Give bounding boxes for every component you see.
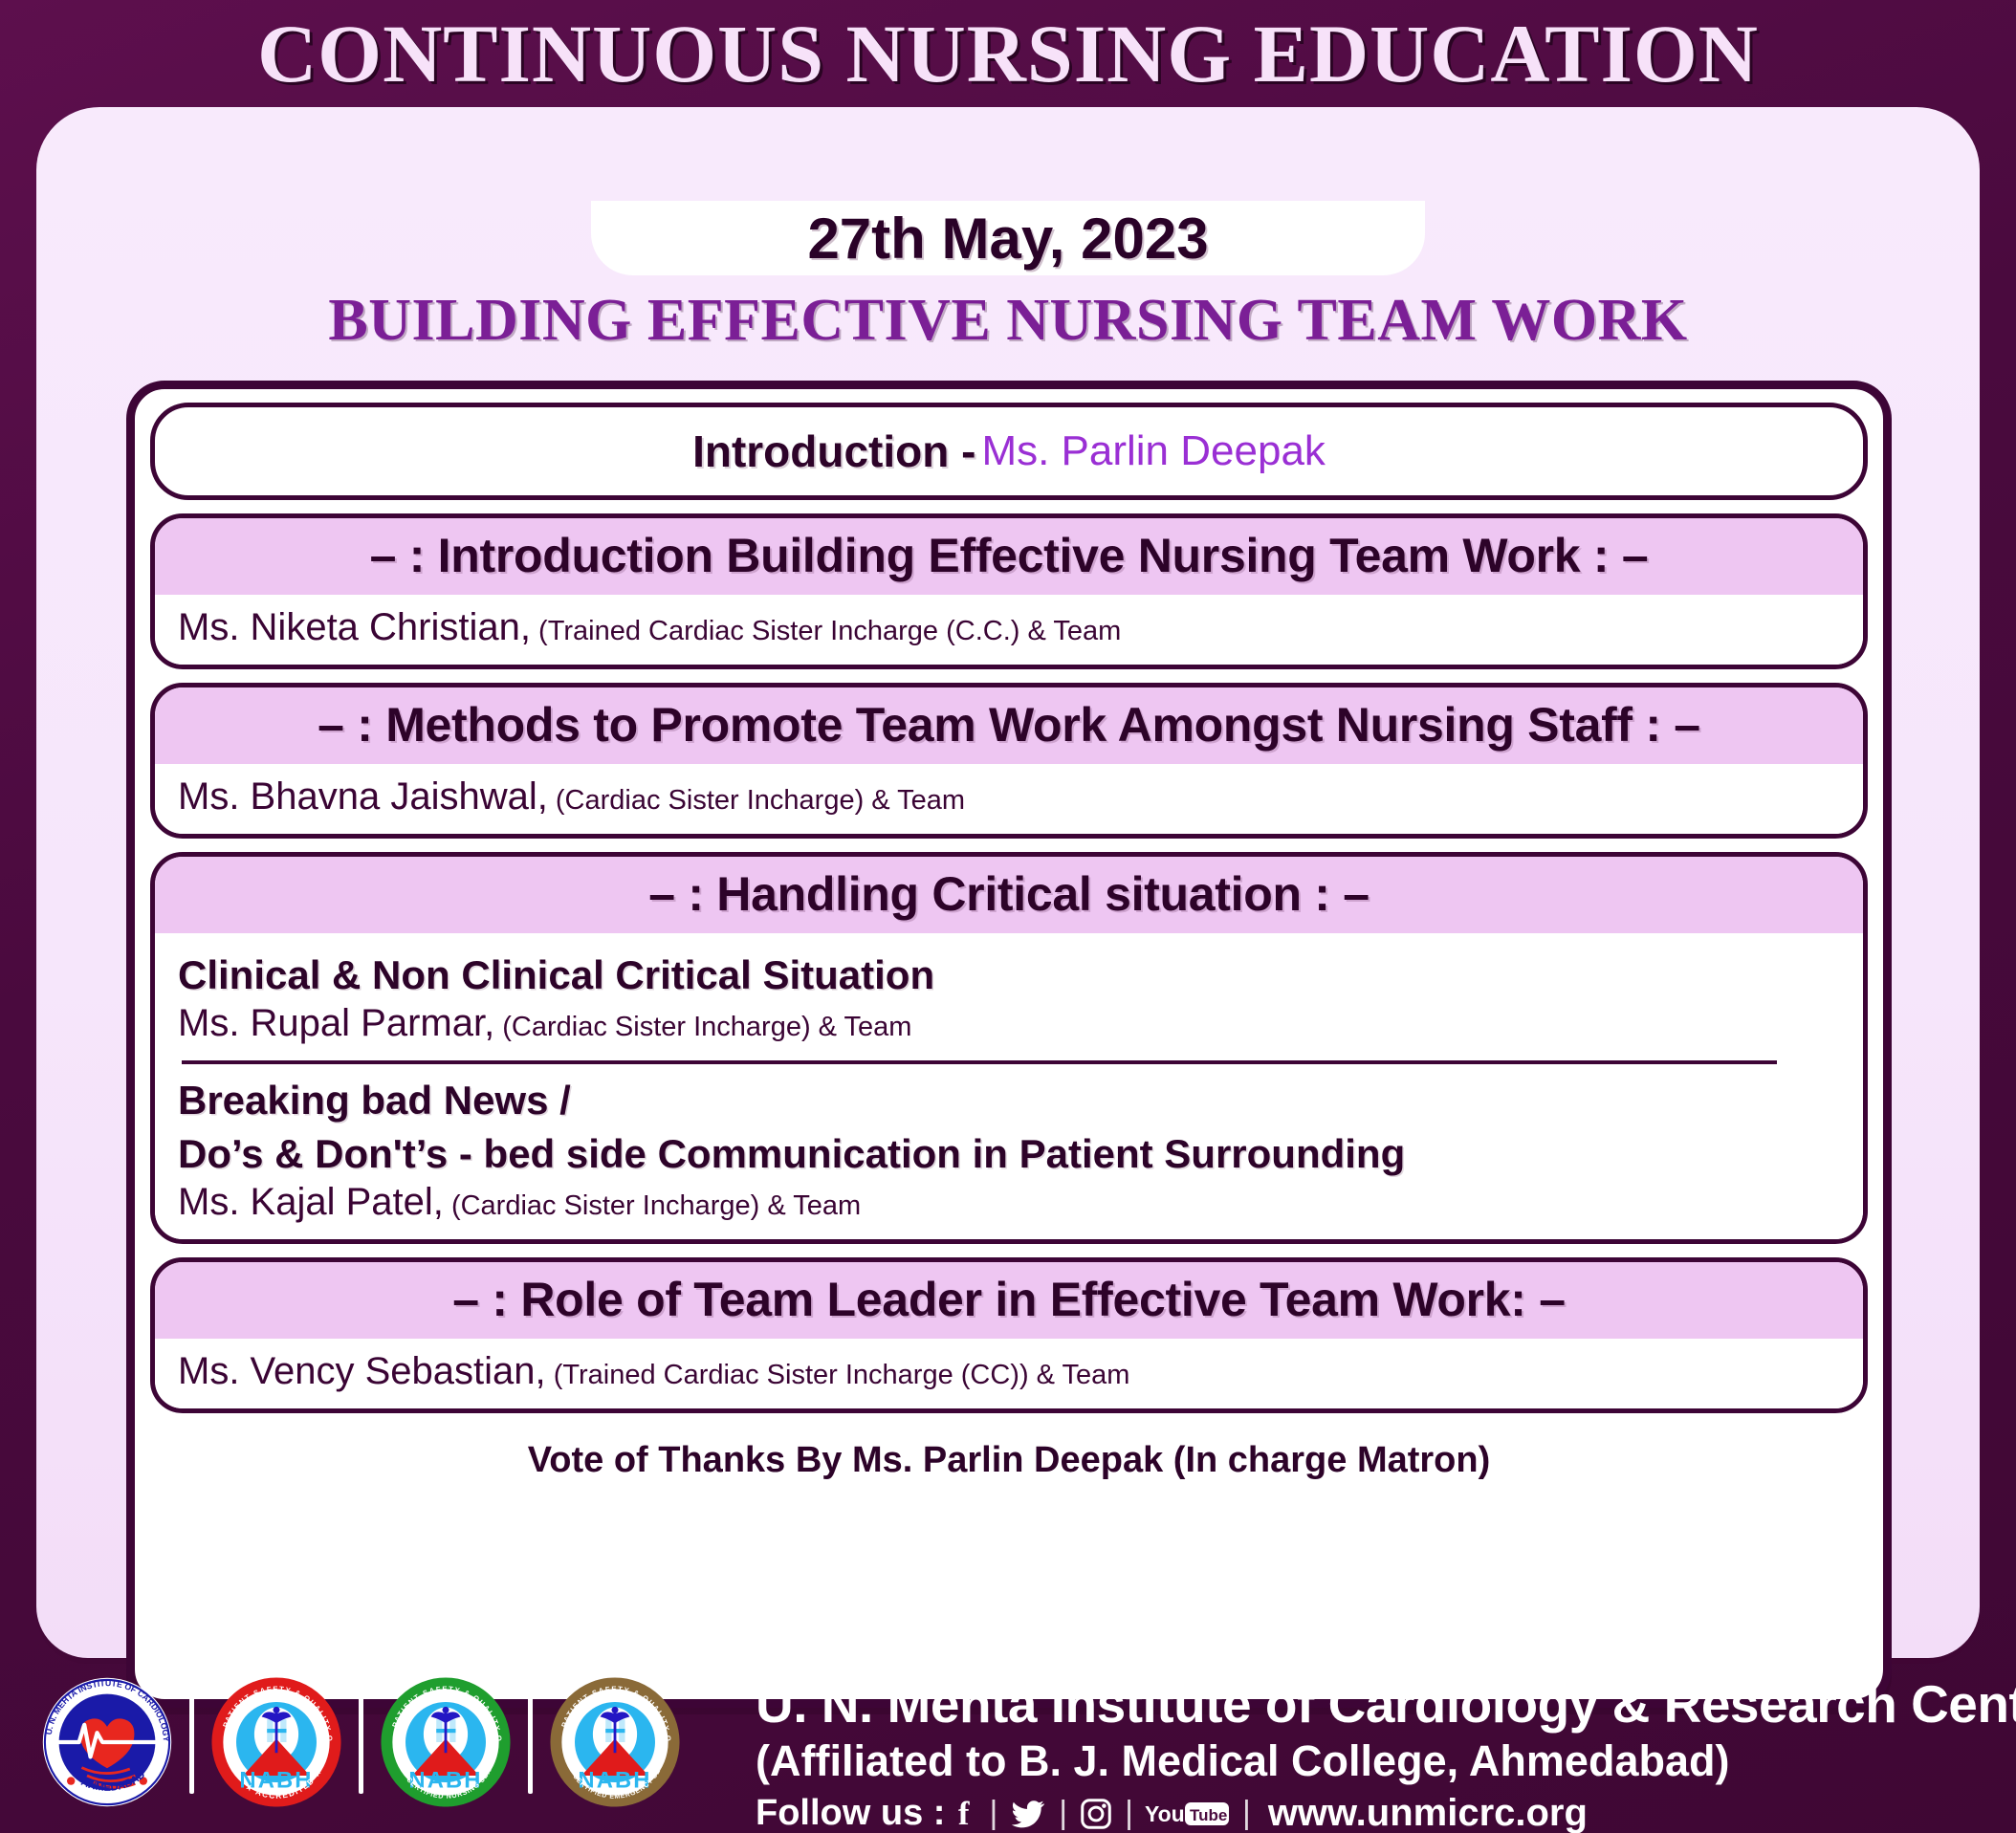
presenter-role: (Trained Cardiac Sister Incharge (CC)) &… (546, 1360, 1130, 1390)
logo-strip: U. N. MEHTA INSTITUTE OF CARDIOLOGY & RE… (40, 1669, 682, 1815)
presenter-name: Ms. Niketa Christian, (178, 606, 531, 648)
organization-name: U. N. Mehta Institute of Cardiology & Re… (756, 1673, 2016, 1735)
section-divider (182, 1060, 1777, 1064)
presenter-name: Ms. Rupal Parmar, (178, 1002, 494, 1044)
page-title: CONTINUOUS NURSING EDUCATION (0, 6, 2016, 101)
separator: | (1242, 1795, 1251, 1832)
follow-us-label: Follow us : (756, 1793, 945, 1833)
footer: U. N. MEHTA INSTITUTE OF CARDIOLOGY & RE… (0, 1662, 2016, 1833)
footer-text: U. N. Mehta Institute of Cardiology & Re… (756, 1673, 2016, 1833)
introduction-row: Introduction - Ms. Parlin Deepak (150, 403, 1868, 500)
session-body: Ms. Niketa Christian, (Trained Cardiac S… (155, 595, 1863, 665)
critical-body: Clinical & Non Clinical Critical Situati… (155, 933, 1863, 1239)
presenter-role: (Cardiac Sister Incharge) & Team (548, 785, 965, 816)
nabh-emergency-logo: NABH PATIENT SAFETY & QUALITY OF CARE CE… (548, 1669, 682, 1815)
instagram-icon[interactable] (1079, 1797, 1113, 1831)
logo-divider (189, 1691, 194, 1794)
session-body: Ms. Bhavna Jaishwal, (Cardiac Sister Inc… (155, 764, 1863, 834)
nabh-nursing-logo: NABH PATIENT SAFETY & QUALITY OF CARE CE… (379, 1669, 513, 1815)
separator: | (1059, 1795, 1067, 1832)
presenter-line: Ms. Niketa Christian, (Trained Cardiac S… (178, 606, 1840, 649)
critical-heading: – : Handling Critical situation : – (155, 857, 1863, 933)
programme-container: Introduction - Ms. Parlin Deepak – : Int… (126, 381, 1892, 1708)
critical-topic-line1: Breaking bad News / (178, 1078, 1840, 1124)
presenter-role: (Cardiac Sister Incharge) & Team (444, 1190, 861, 1221)
logo-divider (359, 1691, 363, 1794)
svg-text:Tube: Tube (1190, 1806, 1227, 1824)
session-heading: – : Methods to Promote Team Work Amongst… (155, 687, 1863, 764)
affiliation: (Affiliated to B. J. Medical College, Ah… (756, 1736, 2016, 1786)
presenter-name: Ms. Bhavna Jaishwal, (178, 775, 548, 818)
nabh-accredited-logo: NABH PATIENT SAFETY & QUALITY OF CARE ★ … (209, 1669, 343, 1815)
svg-text:You: You (1145, 1801, 1185, 1826)
presenter-line: Ms. Rupal Parmar, (Cardiac Sister Inchar… (178, 1002, 1840, 1045)
presenter-name: Ms. Kajal Patel, (178, 1181, 444, 1223)
main-panel: 27th May, 2023 BUILDING EFFECTIVE NURSIN… (36, 107, 1980, 1658)
session-card: – : Methods to Promote Team Work Amongst… (150, 683, 1868, 839)
introduction-speaker: Ms. Parlin Deepak (981, 427, 1325, 475)
unmicrc-logo: U. N. MEHTA INSTITUTE OF CARDIOLOGY & RE… (40, 1669, 174, 1815)
twitter-icon[interactable] (1009, 1797, 1047, 1831)
presenter-line: Ms. Bhavna Jaishwal, (Cardiac Sister Inc… (178, 775, 1840, 818)
logo-divider (528, 1691, 533, 1794)
event-date: 27th May, 2023 (807, 206, 1208, 272)
presenter-line: Ms. Vency Sebastian, (Trained Cardiac Si… (178, 1350, 1840, 1393)
facebook-icon[interactable]: f (956, 1795, 977, 1833)
team-leader-card: – : Role of Team Leader in Effective Tea… (150, 1257, 1868, 1413)
critical-topic: Clinical & Non Clinical Critical Situati… (178, 952, 1840, 998)
presenter-role: (Cardiac Sister Incharge) & Team (494, 1012, 911, 1042)
website-url[interactable]: www.unmicrc.org (1268, 1792, 1588, 1833)
presenter-line: Ms. Kajal Patel, (Cardiac Sister Incharg… (178, 1181, 1840, 1224)
youtube-icon[interactable]: You Tube (1145, 1797, 1231, 1831)
session-heading: – : Introduction Building Effective Nurs… (155, 518, 1863, 595)
team-leader-heading: – : Role of Team Leader in Effective Tea… (155, 1262, 1863, 1339)
social-row: Follow us : f | | | You (756, 1792, 2016, 1833)
event-date-pill: 27th May, 2023 (591, 201, 1425, 275)
separator: | (1125, 1795, 1133, 1832)
vote-of-thanks: Vote of Thanks By Ms. Parlin Deepak (In … (150, 1427, 1868, 1487)
critical-situation-card: – : Handling Critical situation : – Clin… (150, 852, 1868, 1244)
presenter-name: Ms. Vency Sebastian, (178, 1350, 546, 1392)
session-card: – : Introduction Building Effective Nurs… (150, 513, 1868, 669)
critical-topic-line2: Do’s & Don't’s - bed side Communication … (178, 1131, 1840, 1177)
poster: CONTINUOUS NURSING EDUCATION 27th May, 2… (0, 0, 2016, 1833)
team-leader-body: Ms. Vency Sebastian, (Trained Cardiac Si… (155, 1339, 1863, 1408)
event-subtitle: BUILDING EFFECTIVE NURSING TEAM WORK (36, 287, 1980, 355)
separator: | (989, 1795, 997, 1832)
svg-text:f: f (958, 1795, 970, 1832)
presenter-role: (Trained Cardiac Sister Incharge (C.C.) … (531, 616, 1121, 646)
introduction-label: Introduction - (692, 426, 975, 477)
